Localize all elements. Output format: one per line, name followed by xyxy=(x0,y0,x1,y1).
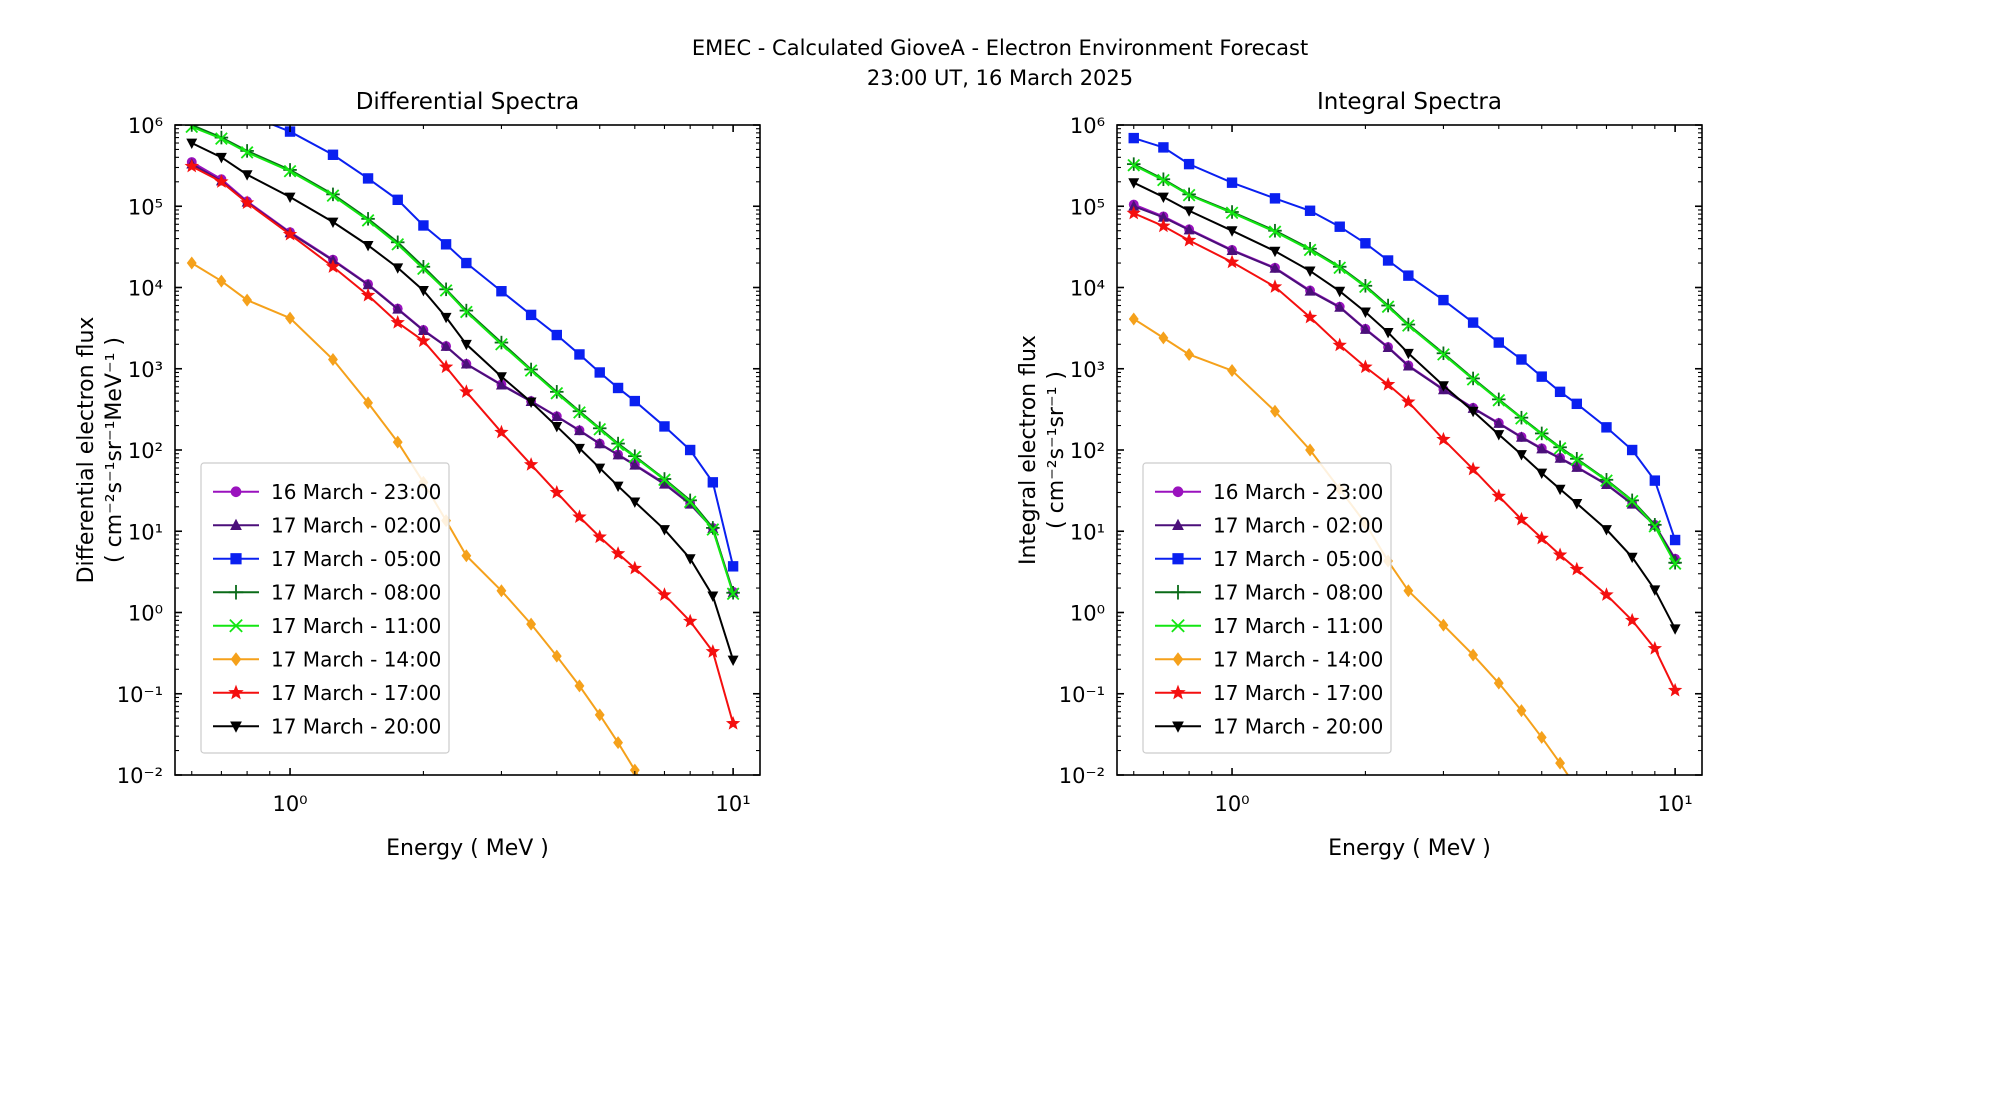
marker-square xyxy=(613,383,623,393)
marker-square xyxy=(1383,255,1393,265)
legend-label: 17 March - 08:00 xyxy=(1213,580,1383,604)
marker-diamond xyxy=(1158,331,1168,344)
marker-square xyxy=(1494,337,1504,347)
legend-integral: 16 March - 23:0017 March - 02:0017 March… xyxy=(1143,463,1391,753)
marker-square xyxy=(230,553,241,564)
legend-label: 17 March - 17:00 xyxy=(1213,681,1383,705)
x-ticklabel: 10¹ xyxy=(716,792,751,816)
yaxis-label-line2-integral: ( cm⁻²s⁻¹sr⁻¹ ) xyxy=(1044,371,1069,529)
marker-triangle-down xyxy=(1670,624,1681,634)
legend-label: 17 March - 14:00 xyxy=(1213,647,1383,671)
x-ticklabel: 10¹ xyxy=(1658,792,1693,816)
xaxis-label-differential: Energy ( MeV ) xyxy=(386,836,549,861)
y-ticklabel: 10⁵ xyxy=(1070,195,1105,219)
marker-triangle-down xyxy=(242,170,253,180)
marker-triangle-down xyxy=(328,218,339,228)
marker-star xyxy=(416,333,430,347)
marker-square xyxy=(1670,535,1680,545)
marker-square xyxy=(1468,317,1478,327)
y-ticklabel: 10¹ xyxy=(1070,520,1105,544)
marker-circle xyxy=(1173,486,1184,497)
y-ticklabel: 10⁴ xyxy=(128,277,163,301)
legend-label: 17 March - 02:00 xyxy=(271,513,441,537)
marker-square xyxy=(1335,222,1345,232)
y-ticklabel: 10⁻¹ xyxy=(1059,683,1105,707)
marker-star xyxy=(1225,255,1239,269)
x-ticklabel: 10⁰ xyxy=(1214,792,1249,816)
marker-square xyxy=(496,286,506,296)
marker-square xyxy=(418,220,428,230)
marker-square xyxy=(552,330,562,340)
marker-square xyxy=(1227,177,1237,187)
spectra-figure: Differential Spectra10⁻²10⁻¹10⁰10¹10²10³… xyxy=(0,0,2000,1100)
y-ticklabel: 10¹ xyxy=(128,520,163,544)
legend-label: 17 March - 11:00 xyxy=(1213,614,1383,638)
marker-star xyxy=(1182,233,1196,247)
marker-square xyxy=(1158,142,1168,152)
marker-square xyxy=(1650,475,1660,485)
marker-square xyxy=(708,477,718,487)
y-ticklabel: 10³ xyxy=(128,358,163,382)
y-ticklabel: 10⁻² xyxy=(1059,764,1105,788)
marker-square xyxy=(659,421,669,431)
y-ticklabel: 10² xyxy=(1070,439,1105,463)
marker-square xyxy=(1572,399,1582,409)
marker-square xyxy=(1270,193,1280,203)
legend-label: 17 March - 05:00 xyxy=(271,547,441,571)
panel-title-differential: Differential Spectra xyxy=(356,89,580,115)
marker-square xyxy=(1537,371,1547,381)
marker-square xyxy=(1438,295,1448,305)
legend-label: 17 March - 02:00 xyxy=(1213,513,1383,537)
marker-square xyxy=(728,561,738,571)
marker-square xyxy=(595,367,605,377)
panel-title-integral: Integral Spectra xyxy=(1317,89,1502,115)
marker-square xyxy=(328,150,338,160)
marker-square xyxy=(1172,553,1183,564)
marker-triangle-down xyxy=(216,153,227,163)
marker-circle xyxy=(231,486,242,497)
y-ticklabel: 10⁰ xyxy=(1070,602,1105,626)
marker-triangle-down xyxy=(707,591,718,601)
marker-square xyxy=(1516,354,1526,364)
legend-label: 17 March - 14:00 xyxy=(271,647,441,671)
marker-square xyxy=(461,258,471,268)
marker-triangle-down xyxy=(285,193,296,203)
marker-square xyxy=(1555,387,1565,397)
x-ticklabel: 10⁰ xyxy=(272,792,307,816)
marker-triangle-down xyxy=(1649,585,1660,595)
marker-star xyxy=(185,159,199,173)
marker-square xyxy=(1627,445,1637,455)
marker-square xyxy=(1184,159,1194,169)
legend-label: 17 March - 08:00 xyxy=(271,580,441,604)
legend-label: 16 March - 23:00 xyxy=(271,480,441,504)
y-ticklabel: 10⁶ xyxy=(128,114,163,138)
y-ticklabel: 10⁰ xyxy=(128,602,163,626)
marker-triangle-down xyxy=(1334,287,1345,297)
marker-diamond xyxy=(216,275,226,288)
y-ticklabel: 10⁵ xyxy=(128,195,163,219)
yaxis-label-line1-integral: Integral electron flux xyxy=(1016,335,1041,565)
marker-triangle-down xyxy=(1305,266,1316,276)
marker-diamond xyxy=(187,257,197,270)
marker-square xyxy=(242,109,252,119)
y-ticklabel: 10⁻¹ xyxy=(117,683,163,707)
marker-square xyxy=(526,310,536,320)
marker-square xyxy=(685,445,695,455)
marker-diamond xyxy=(1572,782,1582,795)
marker-star xyxy=(726,716,740,730)
marker-square xyxy=(1360,238,1370,248)
legend-label: 17 March - 20:00 xyxy=(271,714,441,738)
legend-label: 17 March - 20:00 xyxy=(1213,714,1383,738)
y-ticklabel: 10⁻² xyxy=(117,764,163,788)
yaxis-label-line1-differential: Differential electron flux xyxy=(74,317,99,584)
y-ticklabel: 10⁴ xyxy=(1070,277,1105,301)
marker-square xyxy=(363,173,373,183)
legend-label: 17 March - 11:00 xyxy=(271,614,441,638)
marker-square xyxy=(630,396,640,406)
marker-square xyxy=(1601,422,1611,432)
y-ticklabel: 10² xyxy=(128,439,163,463)
marker-triangle-down xyxy=(728,656,739,666)
marker-star xyxy=(1668,683,1682,697)
marker-square xyxy=(1403,270,1413,280)
legend-label: 17 March - 05:00 xyxy=(1213,547,1383,571)
legend-label: 16 March - 23:00 xyxy=(1213,480,1383,504)
legend-label: 17 March - 17:00 xyxy=(271,681,441,705)
marker-square xyxy=(441,239,451,249)
yaxis-label-line2-differential: ( cm⁻²s⁻¹sr⁻¹MeV⁻¹ ) xyxy=(102,337,127,563)
panel-differential: Differential Spectra10⁻²10⁻¹10⁰10¹10²10³… xyxy=(74,89,760,962)
y-ticklabel: 10⁶ xyxy=(1070,114,1105,138)
xaxis-label-integral: Energy ( MeV ) xyxy=(1328,836,1491,861)
marker-triangle-down xyxy=(1158,193,1169,203)
marker-square xyxy=(393,195,403,205)
marker-diamond xyxy=(242,294,252,307)
legend-differential: 16 March - 23:0017 March - 02:0017 March… xyxy=(201,463,449,753)
marker-diamond xyxy=(1184,348,1194,361)
marker-diamond xyxy=(1129,312,1139,325)
panel-integral: Integral Spectra10⁻²10⁻¹10⁰10¹10²10³10⁴1… xyxy=(1016,89,1702,970)
marker-square xyxy=(1305,206,1315,216)
legend-box xyxy=(1143,463,1391,753)
legend-box xyxy=(201,463,449,753)
marker-triangle-down xyxy=(363,241,374,251)
y-ticklabel: 10³ xyxy=(1070,358,1105,382)
marker-triangle-down xyxy=(1270,247,1281,257)
marker-square xyxy=(1129,133,1139,143)
marker-square xyxy=(574,349,584,359)
